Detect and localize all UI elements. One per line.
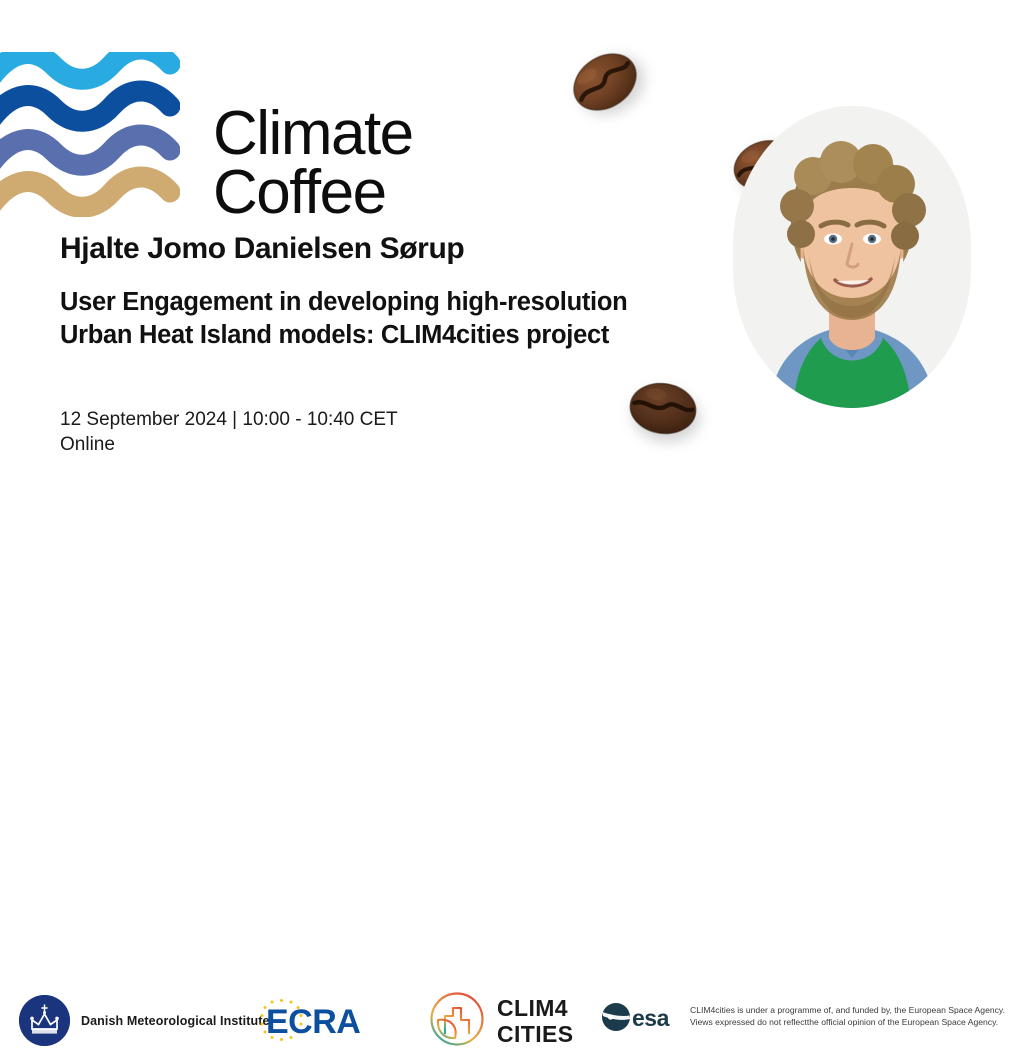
logo-esa: esa [602, 1002, 682, 1032]
event-location: Online [60, 432, 530, 457]
city-leaf-circle-icon [428, 990, 486, 1053]
logo-dmi: Danish Meteorological Institute [19, 995, 270, 1046]
page-title: Climate Coffee [213, 104, 543, 223]
coffee-bean-icon [620, 367, 705, 450]
logo-dmi-label: Danish Meteorological Institute [81, 1014, 270, 1028]
crown-icon [19, 995, 70, 1046]
logo-ecra: ECRA [260, 996, 400, 1044]
avatar-image [733, 106, 971, 408]
event-details: 12 September 2024 | 10:00 - 10:40 CET On… [60, 407, 530, 458]
footer-logo-bar: Danish Meteorological Institute [0, 490, 1024, 576]
headline-line-1: Climate [213, 104, 543, 164]
speaker-name: Hjalte Jomo Danielsen Sørup [60, 232, 464, 266]
dmi-wave-logo [0, 52, 180, 217]
clim4-line-1: CLIM4 [497, 996, 574, 1022]
logo-clim4cities: CLIM4 CITIES [428, 990, 574, 1053]
avatar [733, 168, 971, 406]
poster-canvas: Climate Coffee Hjalte Jomo Danielsen Sør… [0, 0, 1024, 576]
coffee-bean-icon [553, 30, 657, 134]
event-datetime: 12 September 2024 | 10:00 - 10:40 CET [60, 407, 530, 432]
svg-text:esa: esa [632, 1005, 670, 1031]
funding-disclaimer: CLIM4cities is under a programme of, and… [690, 1004, 1010, 1029]
headline-line-2: Coffee [213, 163, 543, 223]
svg-text:ECRA: ECRA [266, 1003, 360, 1041]
clim4-line-2: CITIES [497, 1022, 574, 1048]
logo-clim4cities-label: CLIM4 CITIES [497, 996, 574, 1048]
talk-title: User Engagement in developing high-resol… [60, 286, 635, 352]
